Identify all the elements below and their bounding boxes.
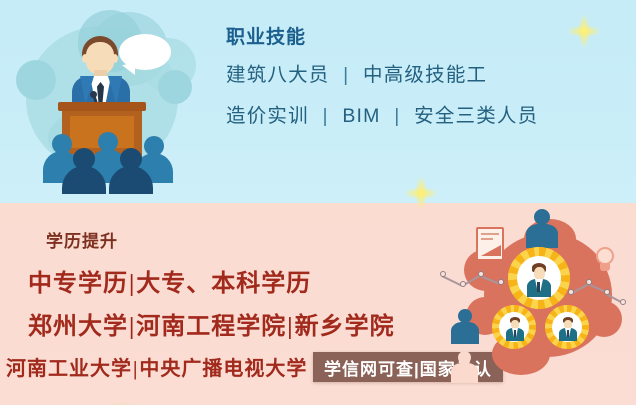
gear-icon bbox=[492, 305, 536, 349]
education-upgrade-panel: 学历提升 中专学历|大专、本科学历 郑州大学|河南工程学院|新乡学院 河南工业大… bbox=[0, 203, 636, 405]
education-line-2: 郑州大学|河南工程学院|新乡学院 bbox=[28, 306, 395, 341]
vocational-skills-panel: 职业技能 建筑八大员 | 中高级技能工 造价实训 | BIM | 安全三类人员 bbox=[0, 0, 636, 203]
education-item: 新乡学院 bbox=[295, 314, 395, 340]
chart-card-icon bbox=[476, 227, 504, 261]
promo-banner: 职业技能 建筑八大员 | 中高级技能工 造价实训 | BIM | 安全三类人员 … bbox=[0, 0, 636, 405]
education-item: 郑州大学 bbox=[28, 314, 128, 340]
education-item: 中央广播电视大学 bbox=[139, 358, 307, 380]
glow-icon bbox=[101, 401, 145, 405]
separator: | bbox=[387, 105, 407, 127]
skill-item: 建筑八大员 bbox=[226, 64, 330, 86]
skill-item: 造价实训 bbox=[226, 105, 309, 127]
skill-item: 安全三类人员 bbox=[414, 105, 538, 127]
separator: | bbox=[286, 314, 294, 340]
separator: | bbox=[336, 64, 356, 86]
vocational-skills-line-2: 造价实训 | BIM | 安全三类人员 bbox=[226, 107, 626, 127]
speaker-at-podium-illustration bbox=[18, 8, 208, 194]
vocational-skills-title: 职业技能 bbox=[226, 28, 626, 47]
gear-icon bbox=[508, 247, 570, 309]
lightbulb-icon bbox=[594, 247, 616, 273]
education-line-3: 河南工业大学|中央广播电视大学 bbox=[6, 352, 307, 381]
education-upgrade-title: 学历提升 bbox=[46, 227, 118, 252]
education-item: 河南工程学院 bbox=[136, 314, 286, 340]
vocational-skills-text-block: 职业技能 建筑八大员 | 中高级技能工 造价实训 | BIM | 安全三类人员 bbox=[226, 28, 626, 147]
gear-icon bbox=[545, 305, 589, 349]
separator: | bbox=[315, 105, 335, 127]
skill-item: 中高级技能工 bbox=[363, 64, 487, 86]
education-item: 大专、本科学历 bbox=[136, 271, 311, 297]
education-item: 河南工业大学 bbox=[6, 358, 132, 380]
education-line-1: 中专学历|大专、本科学历 bbox=[28, 263, 311, 298]
vocational-skills-line-1: 建筑八大员 | 中高级技能工 bbox=[226, 66, 626, 86]
gears-with-people-illustration bbox=[436, 205, 636, 405]
skill-item: BIM bbox=[342, 105, 380, 127]
education-item: 中专学历 bbox=[28, 271, 128, 297]
